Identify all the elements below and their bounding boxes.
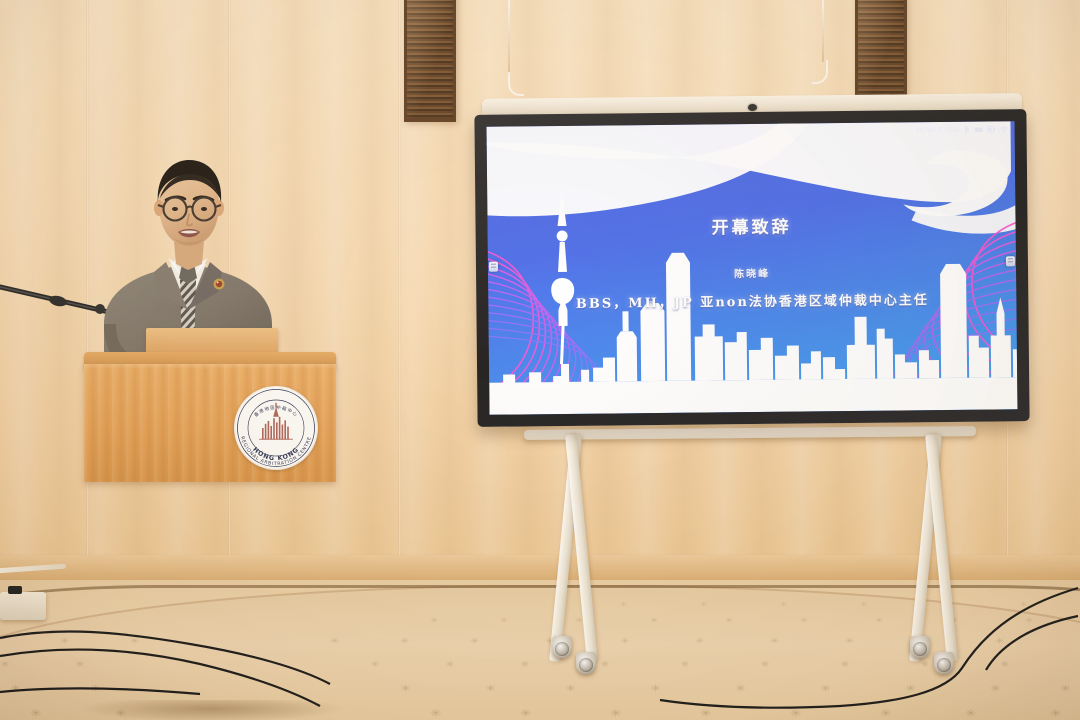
- caster-wheel: [576, 652, 596, 674]
- hanging-cord: [508, 0, 510, 74]
- podium-column: [100, 478, 318, 720]
- wifi-icon[interactable]: [1000, 125, 1009, 135]
- caster-wheel: [910, 636, 930, 658]
- podium: 香港地區仲裁中心 HONG KONG REGIONAL ARBITRATION …: [38, 352, 378, 720]
- caster-wheel: [934, 652, 954, 674]
- network-icon[interactable]: [975, 125, 983, 135]
- podium-front-face: 香港地區仲裁中心 HONG KONG REGIONAL ARBITRATION …: [84, 364, 336, 482]
- bluetooth-icon[interactable]: [964, 125, 971, 136]
- battery-icon[interactable]: [987, 125, 996, 135]
- right-toolbar-handle[interactable]: [1006, 257, 1015, 267]
- podium-emblem: 香港地區仲裁中心 HONG KONG REGIONAL ARBITRATION …: [234, 386, 318, 470]
- camera-icon: [748, 104, 757, 111]
- louver-shutter-right: [855, 0, 907, 100]
- podium-shadow: [78, 700, 346, 720]
- lapel-pin: [214, 279, 225, 290]
- power-plug: [8, 586, 22, 594]
- hanging-cord: [822, 0, 824, 62]
- left-toolbar-handle[interactable]: [489, 262, 498, 272]
- display-statusbar: HDMI 2 USB: [916, 124, 1008, 136]
- display-screen[interactable]: 开幕致辞 陈晓峰 BBS，MH，JP 亚non法协香港区域仲裁中心主任 HDMI…: [487, 121, 1018, 415]
- caster-wheel: [552, 636, 572, 658]
- louver-shutter-left: [404, 0, 456, 122]
- display-bezel: 开幕致辞 陈晓峰 BBS，MH，JP 亚non法协香港区域仲裁中心主任 HDMI…: [474, 109, 1029, 427]
- statusbar-label: HDMI 2 USB: [916, 127, 959, 134]
- conference-photo-scene: ✳✳✳✳✳✳✳✳✳✳✳✳✳✳✳✳✳✳✳✳✳✳✳✳✳✳✳✳✳✳✳✳✳✳✳✳✳✳✳✳…: [0, 0, 1080, 720]
- interactive-display[interactable]: 开幕致辞 陈晓峰 BBS，MH，JP 亚non法协香港区域仲裁中心主任 HDMI…: [468, 96, 1034, 436]
- wall-seam: [398, 0, 401, 600]
- podium-document-ledge: [146, 328, 278, 354]
